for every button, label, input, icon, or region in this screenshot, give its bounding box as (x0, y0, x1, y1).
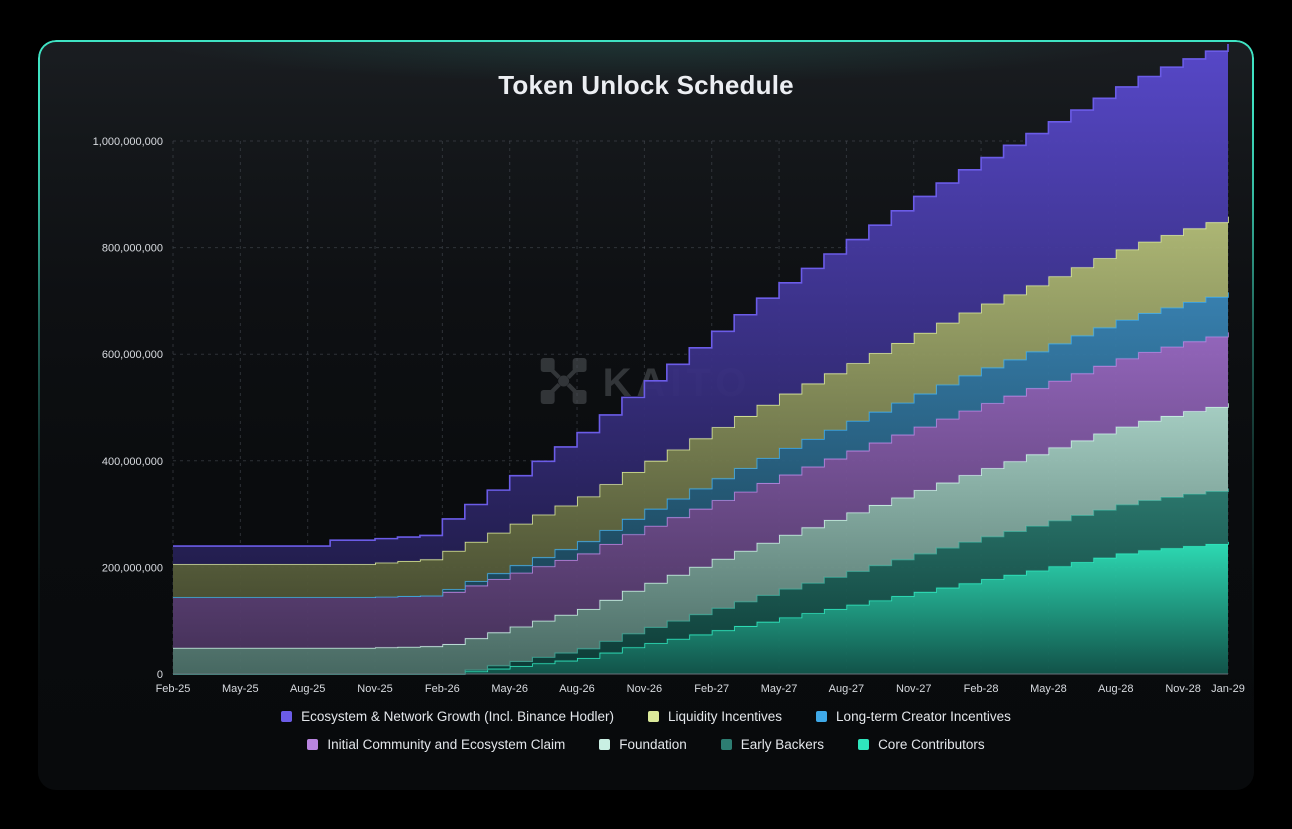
x-axis-labels: Feb-25May-25Aug-25Nov-25Feb-26May-26Aug-… (156, 683, 1245, 695)
x-axis-tick-label: Nov-27 (896, 683, 931, 695)
x-axis-tick-label: May-26 (491, 683, 528, 695)
legend-item[interactable]: Core Contributors (858, 737, 985, 752)
chart-plot-area: 0200,000,000400,000,000600,000,000800,00… (38, 40, 1254, 790)
legend-item-label: Foundation (619, 737, 687, 752)
legend-row: Initial Community and Ecosystem ClaimFou… (38, 737, 1254, 752)
legend-item[interactable]: Ecosystem & Network Growth (Incl. Binanc… (281, 709, 614, 724)
x-axis-tick-label: Aug-26 (559, 683, 594, 695)
x-axis-tick-label: Nov-25 (357, 683, 392, 695)
x-axis-tick-label: Feb-25 (156, 683, 191, 695)
legend-item-label: Core Contributors (878, 737, 985, 752)
y-axis-tick-label: 800,000,000 (102, 242, 163, 254)
chart-legend: Ecosystem & Network Growth (Incl. Binanc… (38, 709, 1254, 752)
legend-item[interactable]: Foundation (599, 737, 687, 752)
x-axis-tick-label: Nov-28 (1165, 683, 1200, 695)
legend-swatch-icon (599, 739, 610, 750)
x-axis-tick-label: Nov-26 (627, 683, 662, 695)
legend-item[interactable]: Liquidity Incentives (648, 709, 782, 724)
x-axis-tick-label: Feb-27 (694, 683, 729, 695)
x-axis-tick-label: Aug-27 (829, 683, 864, 695)
y-axis-tick-label: 200,000,000 (102, 562, 163, 574)
legend-item-label: Long-term Creator Incentives (836, 709, 1011, 724)
legend-swatch-icon (281, 711, 292, 722)
x-axis-tick-label: May-28 (1030, 683, 1067, 695)
legend-item-label: Initial Community and Ecosystem Claim (327, 737, 565, 752)
x-axis-tick-label: Aug-25 (290, 683, 325, 695)
legend-item[interactable]: Early Backers (721, 737, 824, 752)
x-axis-tick-label: Aug-28 (1098, 683, 1133, 695)
stacked-area-chart: 0200,000,000400,000,000600,000,000800,00… (38, 40, 1254, 790)
x-axis-tick-label: May-25 (222, 683, 259, 695)
y-axis-tick-label: 400,000,000 (102, 455, 163, 467)
legend-item-label: Ecosystem & Network Growth (Incl. Binanc… (301, 709, 614, 724)
y-axis-tick-label: 0 (157, 669, 163, 681)
legend-item[interactable]: Initial Community and Ecosystem Claim (307, 737, 565, 752)
legend-item-label: Liquidity Incentives (668, 709, 782, 724)
legend-item[interactable]: Long-term Creator Incentives (816, 709, 1011, 724)
legend-swatch-icon (721, 739, 732, 750)
page-title: Token Unlock Schedule (38, 70, 1254, 101)
x-axis-tick-label: May-27 (761, 683, 798, 695)
y-axis-tick-label: 600,000,000 (102, 349, 163, 361)
legend-swatch-icon (858, 739, 869, 750)
legend-row: Ecosystem & Network Growth (Incl. Binanc… (38, 709, 1254, 724)
screenshot-root: Token Unlock Schedule (0, 0, 1292, 829)
x-axis-tick-label: Jan-29 (1211, 683, 1245, 695)
legend-swatch-icon (648, 711, 659, 722)
x-axis-tick-label: Feb-28 (964, 683, 999, 695)
chart-card: Token Unlock Schedule (38, 40, 1254, 790)
legend-swatch-icon (307, 739, 318, 750)
legend-swatch-icon (816, 711, 827, 722)
x-axis-tick-label: Feb-26 (425, 683, 460, 695)
y-axis-tick-label: 1,000,000,000 (93, 136, 163, 148)
legend-item-label: Early Backers (741, 737, 824, 752)
series-areas (173, 43, 1228, 673)
